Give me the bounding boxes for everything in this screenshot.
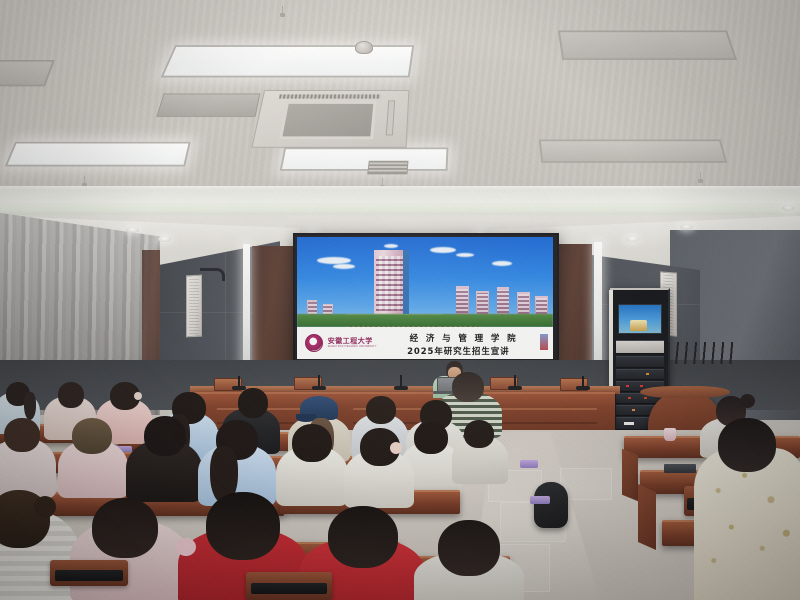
hair-tie-b3	[134, 392, 142, 400]
hair-bun-f1	[34, 496, 56, 518]
campus-building-far-3	[497, 287, 510, 316]
rack-unit-3	[616, 369, 664, 380]
campus-building-far-1	[456, 286, 469, 317]
slide-subheadline: 2025年研究生招生宣讲	[407, 345, 509, 357]
air-conditioner-cassette	[251, 90, 409, 148]
campus-greenery	[297, 314, 553, 327]
downlight-1	[126, 227, 139, 233]
led-panel-light-5	[539, 139, 728, 162]
hair-clip-e6	[390, 442, 402, 454]
downlight-2	[158, 236, 171, 242]
slide-title-band: 安徽工程大学 ANHUI POLYTECHNIC UNIVERSITY 经 济 …	[297, 327, 553, 359]
seat-front-1[interactable]	[50, 560, 128, 586]
smoke-detector-icon	[355, 41, 373, 54]
cable-bundle	[668, 342, 734, 364]
presentation-screen[interactable]: 安徽工程大学 ANHUI POLYTECHNIC UNIVERSITY 经 济 …	[293, 233, 559, 365]
microphone-1	[238, 376, 240, 387]
ceiling-air-vent-1	[156, 93, 260, 116]
wood-wall-panel-far-left	[142, 250, 160, 368]
microphone-4	[514, 375, 516, 387]
lectern-top	[640, 386, 730, 398]
downlight-6	[680, 224, 693, 230]
audience-head-c4	[366, 396, 396, 424]
audience-head-d2	[464, 420, 494, 448]
wall-light-slot-left	[243, 244, 250, 370]
led-panel-light-2	[5, 142, 191, 167]
downlight-5	[626, 236, 639, 242]
audience-head-striped	[452, 372, 484, 402]
rack-preview-monitor	[618, 304, 662, 334]
rack-unit-2	[616, 356, 664, 368]
hair-bow-f3	[176, 538, 196, 556]
audience-hair-bun-r1	[740, 394, 755, 408]
slide-headline: 经 济 与 管 理 学 院	[410, 332, 518, 344]
campus-building-far-4	[517, 292, 530, 316]
led-panel-light-4	[280, 147, 449, 170]
audience-head-e3	[144, 416, 186, 456]
cloud-3	[430, 247, 456, 253]
audience-head-d1	[414, 422, 448, 454]
ceiling-hanger-2	[84, 176, 85, 185]
slide-corner-emblem-icon	[540, 334, 548, 350]
phone-screen-3[interactable]	[520, 460, 538, 468]
audience-head-e1	[4, 418, 40, 452]
desk-side-right-2	[638, 484, 656, 550]
screen-content: 安徽工程大学 ANHUI POLYTECHNIC UNIVERSITY 经 济 …	[297, 237, 553, 359]
campus-main-tower	[374, 250, 407, 316]
tower-blue-stripe	[403, 250, 409, 316]
audience-head-r2	[718, 418, 776, 472]
audience-head-b2	[58, 382, 84, 408]
phone-screen-4[interactable]	[530, 496, 550, 504]
university-logo-subtext: ANHUI POLYTECHNIC UNIVERSITY	[328, 345, 377, 348]
speaker-mount-bracket	[200, 268, 225, 281]
led-panel-light-1	[161, 45, 415, 77]
audience-head-f2	[92, 498, 158, 558]
cloud-2	[333, 264, 355, 269]
audience-head-c2	[238, 388, 268, 418]
backpack-on-floor[interactable]	[534, 482, 568, 528]
ceiling-air-vent-2	[367, 161, 408, 175]
ceiling-hanger-4	[700, 172, 701, 181]
desk-side-right-1	[622, 449, 638, 501]
wall-column-speaker-left	[186, 275, 202, 338]
lecture-hall-photo: 安徽工程大学 ANHUI POLYTECHNIC UNIVERSITY 经 济 …	[0, 0, 800, 600]
campus-building-far-2	[476, 291, 489, 317]
microphone-5	[582, 376, 584, 387]
cloud-1	[317, 257, 351, 264]
audience-head-e2	[72, 418, 112, 454]
downlight-7	[782, 205, 795, 211]
led-panel-light-3	[558, 31, 737, 60]
cloud-4	[456, 253, 474, 257]
seat-front-2[interactable]	[246, 572, 332, 600]
audience-head-f4	[328, 506, 398, 568]
ceiling-hanger-1	[282, 6, 283, 15]
rack-unit-1	[616, 340, 664, 354]
cup-right	[664, 428, 676, 441]
wall-light-slot-right	[594, 242, 602, 370]
audience-head-f5	[438, 520, 500, 576]
microphone-3	[400, 375, 402, 387]
audience-head-f3	[206, 492, 280, 560]
university-logo-icon	[305, 334, 323, 352]
notebook-on-desk[interactable]	[664, 464, 696, 473]
audience-head-e5	[292, 424, 332, 462]
audience-hair-b1	[24, 392, 36, 420]
microphone-2	[318, 375, 320, 387]
wood-wall-panel-left	[252, 246, 296, 368]
